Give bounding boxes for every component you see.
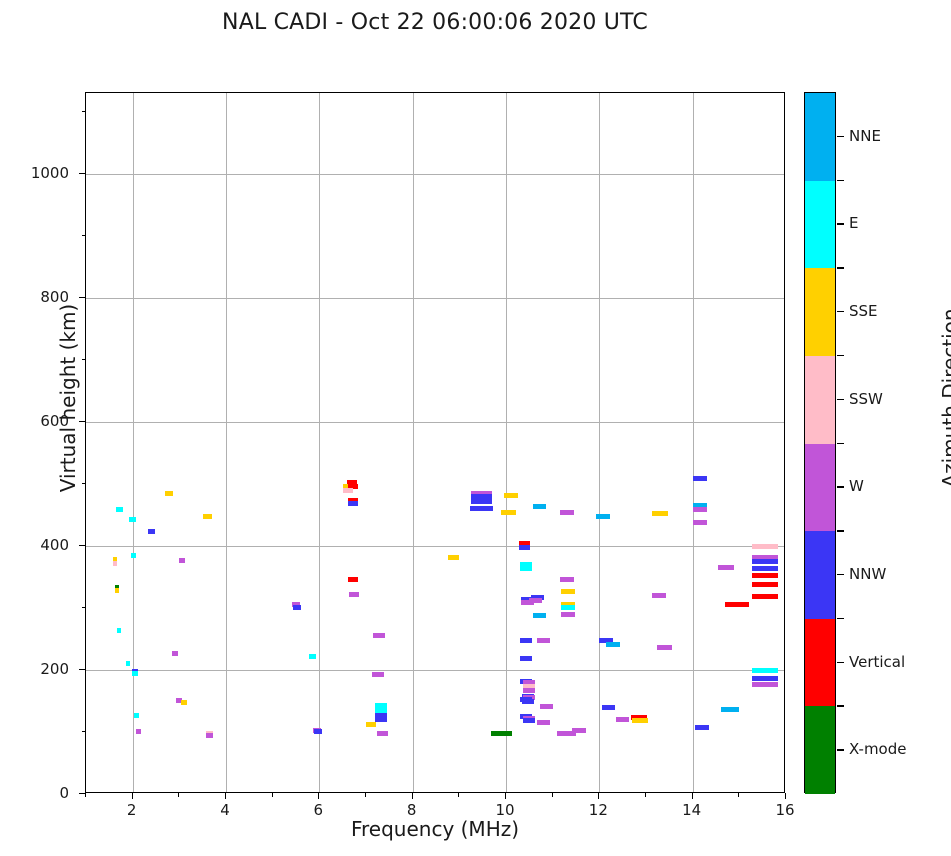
echo-mark — [752, 594, 778, 599]
gridline-horizontal — [86, 298, 784, 299]
colorbar-label: SSE — [849, 302, 878, 320]
gridline-horizontal — [86, 422, 784, 423]
x-tick-minor — [552, 793, 553, 797]
colorbar-band — [805, 93, 835, 181]
echo-mark — [632, 718, 648, 723]
colorbar-boundary-tick — [837, 618, 844, 619]
echo-mark — [606, 642, 620, 647]
echo-mark — [537, 720, 550, 725]
x-tick-minor — [85, 793, 86, 797]
echo-mark — [309, 654, 316, 659]
echo-mark — [523, 688, 535, 693]
x-tick — [598, 793, 599, 799]
colorbar-label: W — [849, 477, 864, 495]
echo-mark — [533, 613, 546, 618]
echo-mark — [448, 555, 459, 560]
echo-mark — [375, 717, 387, 722]
echo-mark — [134, 713, 139, 718]
echo-mark — [752, 668, 778, 673]
colorbar-label: Vertical — [849, 653, 905, 671]
colorbar-tick — [837, 749, 844, 750]
colorbar-label: NNW — [849, 565, 886, 583]
echo-mark — [752, 582, 778, 587]
echo-mark — [181, 700, 187, 705]
echo-mark — [348, 577, 358, 582]
echo-mark — [131, 553, 136, 558]
echo-mark — [561, 612, 575, 617]
echo-mark — [523, 718, 535, 723]
colorbar-boundary-tick — [837, 705, 844, 706]
y-tick — [79, 793, 85, 794]
y-axis-title: Virtual height (km) — [56, 238, 80, 558]
x-tick — [505, 793, 506, 799]
echo-mark — [695, 725, 709, 730]
colorbar-label: X-mode — [849, 740, 906, 758]
colorbar-label: NNE — [849, 127, 881, 145]
x-tick-minor — [178, 793, 179, 797]
colorbar — [804, 92, 836, 793]
echo-mark — [520, 656, 532, 661]
echo-mark — [372, 672, 384, 677]
y-tick — [79, 669, 85, 670]
gridline-vertical — [133, 93, 134, 792]
colorbar-tick — [837, 311, 844, 312]
echo-mark — [652, 511, 668, 516]
plot-area — [85, 92, 785, 793]
colorbar-band — [805, 619, 835, 707]
x-tick — [692, 793, 693, 799]
colorbar-band — [805, 356, 835, 444]
echo-mark — [752, 566, 778, 571]
colorbar-band — [805, 268, 835, 356]
figure-title: NAL CADI - Oct 22 06:00:06 2020 UTC — [0, 10, 870, 35]
echo-mark — [375, 703, 387, 708]
gridline-vertical — [506, 93, 507, 792]
echo-mark — [343, 488, 353, 493]
gridline-horizontal — [86, 546, 784, 547]
echo-mark — [117, 628, 121, 633]
colorbar-boundary-tick — [837, 530, 844, 531]
echo-mark — [561, 605, 575, 610]
echo-mark — [752, 544, 778, 549]
echo-mark — [693, 520, 707, 525]
echo-mark — [602, 705, 615, 710]
echo-mark — [206, 733, 213, 738]
echo-mark — [519, 545, 530, 550]
colorbar-tick — [837, 136, 844, 137]
echo-mark — [501, 510, 516, 515]
echo-mark — [693, 507, 707, 512]
echo-mark — [366, 722, 376, 727]
colorbar-band — [805, 181, 835, 269]
x-tick — [225, 793, 226, 799]
y-tick-minor — [82, 359, 86, 360]
echo-mark — [557, 731, 576, 736]
echo-mark — [132, 671, 138, 676]
echo-mark — [752, 676, 778, 681]
colorbar-title: Azimuth Direction — [938, 238, 951, 558]
y-tick-minor — [82, 235, 86, 236]
echo-mark — [116, 507, 123, 512]
echo-mark — [471, 499, 492, 504]
y-tick-minor — [82, 731, 86, 732]
y-tick-minor — [82, 607, 86, 608]
echo-mark — [533, 504, 546, 509]
gridline-vertical — [319, 93, 320, 792]
echo-mark — [136, 729, 141, 734]
echo-mark — [721, 707, 740, 712]
y-tick-label: 1000 — [9, 164, 69, 182]
echo-mark — [115, 588, 119, 593]
x-tick-minor — [365, 793, 366, 797]
echo-mark — [560, 577, 574, 582]
echo-mark — [179, 558, 185, 563]
x-tick — [785, 793, 786, 799]
ionogram-figure: NAL CADI - Oct 22 06:00:06 2020 UTC 2468… — [0, 0, 951, 856]
colorbar-tick — [837, 399, 844, 400]
echo-mark — [520, 638, 532, 643]
gridline-vertical — [693, 93, 694, 792]
echo-mark — [693, 476, 707, 481]
echo-mark — [377, 731, 388, 736]
colorbar-tick — [837, 574, 844, 575]
colorbar-boundary-tick — [837, 267, 844, 268]
echo-mark — [752, 682, 778, 687]
x-axis-title: Frequency (MHz) — [85, 817, 785, 841]
echo-mark — [561, 589, 575, 594]
echo-mark — [529, 598, 542, 603]
echo-mark — [504, 493, 518, 498]
echo-mark — [657, 645, 672, 650]
echo-mark — [314, 729, 322, 734]
echo-mark — [718, 565, 734, 570]
x-tick-minor — [458, 793, 459, 797]
echo-mark — [165, 491, 172, 496]
echo-mark — [491, 731, 512, 736]
gridline-horizontal — [86, 670, 784, 671]
x-tick-minor — [645, 793, 646, 797]
echo-mark — [172, 651, 178, 656]
echo-mark — [293, 605, 300, 610]
echo-mark — [348, 501, 358, 506]
echo-mark — [349, 592, 359, 597]
x-tick — [318, 793, 319, 799]
echo-mark — [752, 559, 778, 564]
x-tick — [132, 793, 133, 799]
colorbar-boundary-tick — [837, 180, 844, 181]
colorbar-boundary-tick — [837, 355, 844, 356]
x-tick — [412, 793, 413, 799]
y-tick-label: 0 — [9, 784, 69, 802]
colorbar-tick — [837, 223, 844, 224]
echo-mark — [537, 638, 550, 643]
echo-mark — [560, 510, 574, 515]
y-tick — [79, 173, 85, 174]
colorbar-tick — [837, 486, 844, 487]
gridline-vertical — [599, 93, 600, 792]
echo-mark — [540, 704, 553, 709]
y-tick-minor — [82, 111, 86, 112]
echo-mark — [522, 699, 534, 704]
x-tick-minor — [272, 793, 273, 797]
echo-mark — [520, 566, 532, 571]
y-tick-minor — [82, 483, 86, 484]
echo-mark — [148, 529, 155, 534]
echo-mark — [113, 561, 118, 566]
echo-mark — [752, 573, 778, 578]
echo-mark — [470, 506, 493, 511]
echo-mark — [129, 517, 136, 522]
echo-mark — [616, 717, 629, 722]
colorbar-label: E — [849, 214, 858, 232]
echo-mark — [652, 593, 666, 598]
colorbar-label: SSW — [849, 390, 883, 408]
colorbar-tick — [837, 662, 844, 663]
colorbar-boundary-tick — [837, 443, 844, 444]
echo-mark — [373, 633, 385, 638]
gridline-horizontal — [86, 174, 784, 175]
echo-mark — [725, 602, 748, 607]
colorbar-band — [805, 706, 835, 794]
colorbar-band — [805, 531, 835, 619]
echo-mark — [203, 514, 211, 519]
echo-mark — [126, 661, 130, 666]
x-tick-minor — [738, 793, 739, 797]
echo-mark — [596, 514, 610, 519]
y-tick-label: 200 — [9, 660, 69, 678]
gridline-vertical — [226, 93, 227, 792]
gridline-vertical — [413, 93, 414, 792]
colorbar-band — [805, 444, 835, 532]
